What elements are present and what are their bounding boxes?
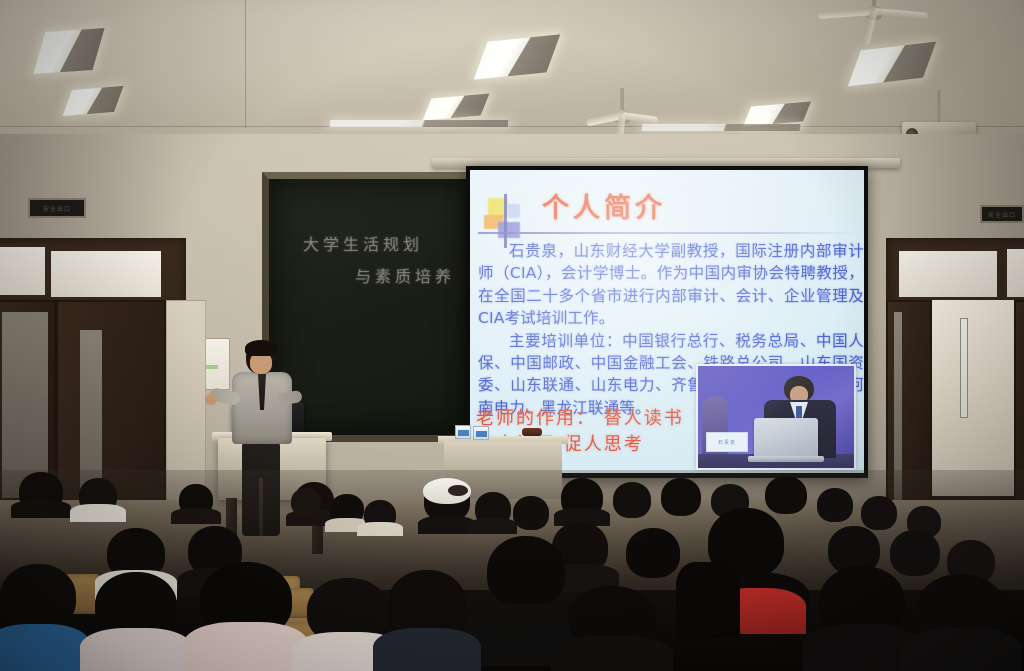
right-transom-window	[1004, 246, 1024, 300]
audience-person	[14, 472, 68, 518]
slide-paragraph-1: 石贵泉，山东财经大学副教授，国际注册内部审计师（CIA），会计学博士。作为中国内…	[478, 240, 864, 330]
blackboard-line-2: 与素质培养	[355, 263, 455, 287]
slide-title: 个人简介	[542, 192, 666, 226]
audience-person	[360, 500, 400, 536]
audience-person	[556, 586, 668, 671]
slide-highlight-line-1: 老师的作用： 替人读书	[476, 406, 726, 432]
exit-sign-right-label: 安全出口	[988, 210, 1016, 219]
left-transom-window	[0, 244, 48, 298]
right-open-doorway[interactable]	[930, 300, 1016, 496]
slide-decorative-logo-icon	[482, 196, 528, 242]
blackboard-eraser	[522, 428, 542, 436]
audience: DTV	[0, 470, 1024, 671]
audience-person	[906, 574, 1016, 671]
hallway-window	[960, 318, 968, 418]
lecture-hall-photo: 安全出口 安全出口 大学生活规划 与素质培养 个人简介 石贵泉，山东财经大学副教	[0, 0, 1024, 671]
audience-person	[608, 482, 656, 526]
audience-person	[808, 566, 916, 671]
ceiling-fan	[826, 0, 922, 40]
audience-person	[676, 562, 740, 638]
exit-sign-left-label: 安全出口	[43, 204, 71, 213]
right-transom-window	[896, 248, 1000, 300]
blackboard-line-1: 大学生活规划	[303, 231, 423, 255]
slide-title-rule	[514, 232, 858, 234]
ceiling-seam	[0, 126, 1024, 127]
audience-person	[188, 562, 304, 671]
audience-person	[286, 488, 326, 522]
ceiling-light-strip	[642, 124, 801, 131]
exit-sign-right: 安全出口	[980, 205, 1024, 223]
audience-person	[74, 478, 122, 522]
audience-person-with-cap	[418, 480, 476, 534]
audience-person	[556, 478, 608, 526]
audience-person	[812, 488, 858, 530]
ceiling-light-strip	[330, 120, 509, 127]
left-transom-window	[48, 248, 164, 300]
audience-person	[378, 570, 476, 671]
bottled-water-box	[473, 426, 489, 440]
ceiling-fan	[590, 88, 654, 134]
audience-person	[0, 564, 86, 671]
exit-sign-left: 安全出口	[28, 198, 86, 218]
audience-person	[174, 484, 218, 524]
bottled-water-box	[455, 425, 471, 439]
ceiling-seam-vertical	[245, 0, 246, 128]
baseball-cap	[423, 478, 471, 504]
audience-person	[84, 572, 188, 671]
